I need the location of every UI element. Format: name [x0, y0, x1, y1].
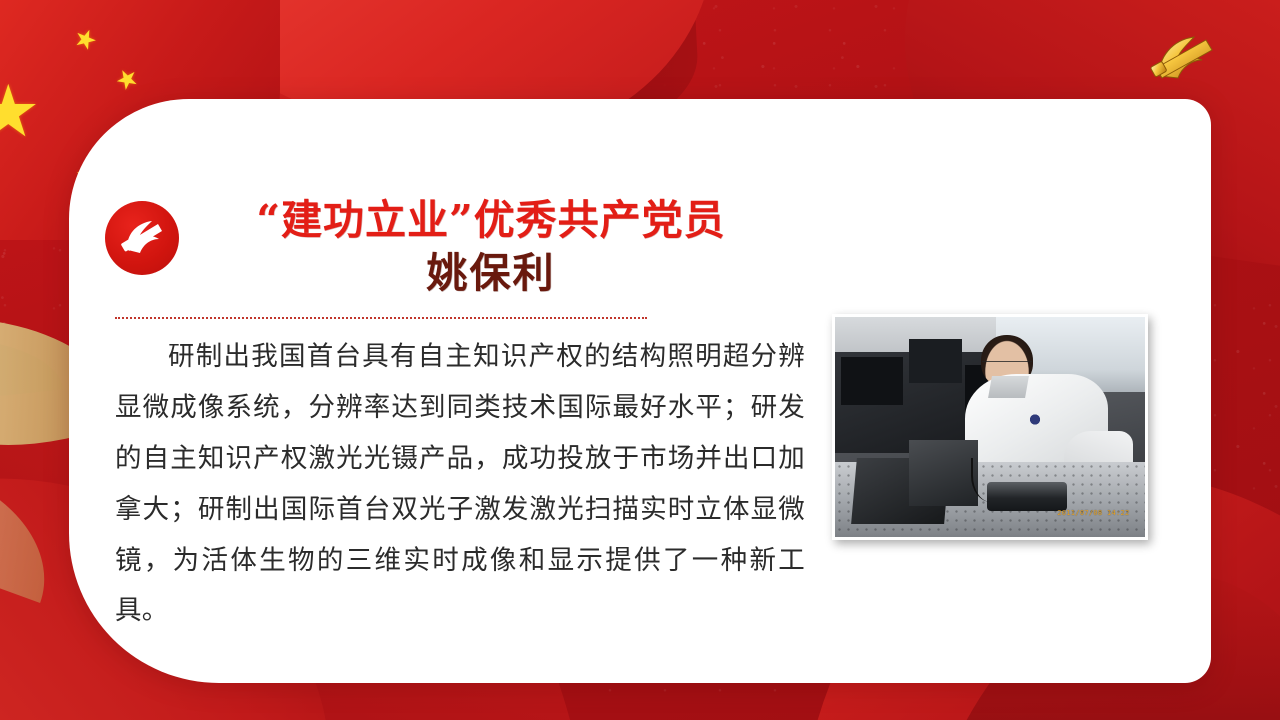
photo-monitor-2	[909, 339, 962, 383]
flag-star-small-2: ★	[110, 62, 145, 97]
content-card: “建功立业”优秀共产党员 姚保利 研制出我国首台具有自主知识产权的结构照明超分辨…	[69, 99, 1211, 683]
divider	[115, 317, 647, 319]
header-row: “建功立业”优秀共产党员 姚保利	[105, 195, 805, 300]
photo-optics-module-2	[909, 440, 977, 506]
title-block: “建功立业”优秀共产党员 姚保利	[211, 195, 771, 300]
photo-date-stamp: 2011/07/08 14:22	[1057, 509, 1129, 517]
slide-root: ★ ★ ★ ★ ★	[0, 0, 1280, 720]
person-name: 姚保利	[211, 248, 771, 299]
photo-person-glasses	[982, 361, 1032, 371]
flag-star-small-1: ★	[70, 23, 101, 56]
photo-monitor-1	[841, 357, 903, 405]
body-paragraph: 研制出我国首台具有自主知识产权的结构照明超分辨显微成像系统，分辨率达到同类技术国…	[115, 332, 805, 637]
lab-photo-image: 2011/07/08 14:22	[835, 317, 1145, 537]
page-title: “建功立业”优秀共产党员	[211, 195, 771, 246]
photo-frame: 2011/07/08 14:22	[832, 314, 1148, 540]
photo-person-collar	[988, 376, 1029, 398]
party-emblem-icon	[105, 201, 179, 275]
photo-labcoat-logo	[1027, 412, 1043, 427]
gold-hammer-sickle-icon	[1142, 24, 1228, 96]
flag-star-large: ★	[0, 76, 41, 148]
